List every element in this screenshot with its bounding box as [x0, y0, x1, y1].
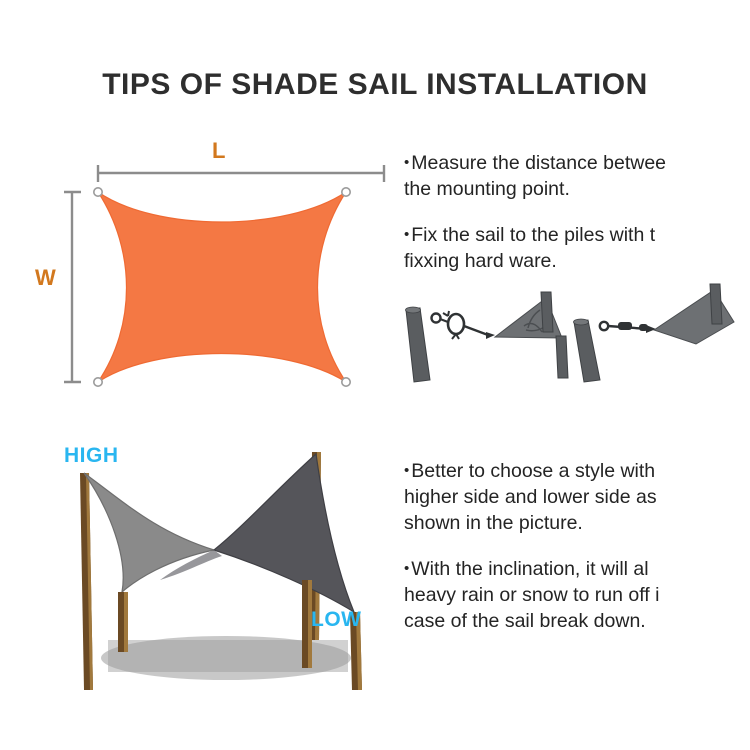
cable-icon	[464, 326, 488, 335]
tip-line: higher side and lower side as	[404, 484, 750, 510]
tip-text: Better to choose a style with	[411, 460, 655, 482]
inclination-drawing	[36, 440, 406, 695]
length-label: L	[212, 138, 225, 164]
turnbuckle-icon	[448, 314, 464, 334]
hardware-fitting-drawing	[396, 282, 750, 382]
tip-line: case of the sail break down.	[404, 608, 750, 634]
tip-item: •With the inclination, it will al heavy …	[404, 556, 750, 634]
bullet-icon: •	[404, 154, 409, 171]
shade-sail-dark	[214, 454, 354, 612]
tips-list-top: •Measure the distance betwee the mountin…	[404, 150, 750, 280]
tip-item: •Better to choose a style with higher si…	[404, 458, 750, 536]
shackle-icon	[432, 314, 441, 323]
high-label: HIGH	[64, 444, 119, 468]
infographic-page: TIPS OF SHADE SAIL INSTALLATION L W	[0, 0, 750, 750]
turnbuckle-icon	[618, 322, 632, 330]
tip-line: shown in the picture.	[404, 510, 750, 536]
left-hardware-fitting	[406, 292, 569, 382]
tip-line: •Fix the sail to the piles with t	[404, 222, 750, 248]
tip-item: •Measure the distance betwee the mountin…	[404, 150, 750, 202]
tip-item: •Fix the sail to the piles with t fixxin…	[404, 222, 750, 274]
sail-dimension-diagram: L W	[36, 140, 406, 400]
tips-list-bottom: •Better to choose a style with higher si…	[404, 458, 750, 648]
post-icon	[406, 308, 430, 382]
low-label: LOW	[311, 608, 361, 632]
post-high-left	[80, 473, 93, 690]
bullet-icon: •	[404, 462, 409, 479]
sail-dimension-drawing	[36, 140, 406, 400]
post-low-mid-left	[118, 592, 128, 652]
bullet-icon: •	[404, 560, 409, 577]
right-hardware-fitting	[574, 284, 735, 382]
tip-text: With the inclination, it will al	[411, 558, 648, 580]
width-label: W	[35, 265, 56, 291]
inclination-diagram: HIGH LOW	[36, 440, 406, 695]
width-dimension-line	[64, 192, 81, 382]
post-icon	[574, 320, 600, 382]
tip-text: Fix the sail to the piles with t	[411, 224, 655, 246]
tip-line: •Measure the distance betwee	[404, 150, 750, 176]
orange-shade-sail	[98, 192, 346, 382]
tip-line: fixxing hard ware.	[404, 248, 750, 274]
tip-text: Measure the distance betwee	[411, 152, 666, 174]
bullet-icon: •	[404, 226, 409, 243]
hardware-fitting-diagram	[396, 282, 750, 382]
tip-line: •With the inclination, it will al	[404, 556, 750, 582]
shackle-icon	[600, 322, 608, 330]
length-dimension-line	[98, 165, 384, 182]
page-title: TIPS OF SHADE SAIL INSTALLATION	[0, 68, 750, 102]
tip-line: •Better to choose a style with	[404, 458, 750, 484]
tip-line: the mounting point.	[404, 176, 750, 202]
tip-line: heavy rain or snow to run off i	[404, 582, 750, 608]
shade-sail-light	[84, 473, 214, 592]
